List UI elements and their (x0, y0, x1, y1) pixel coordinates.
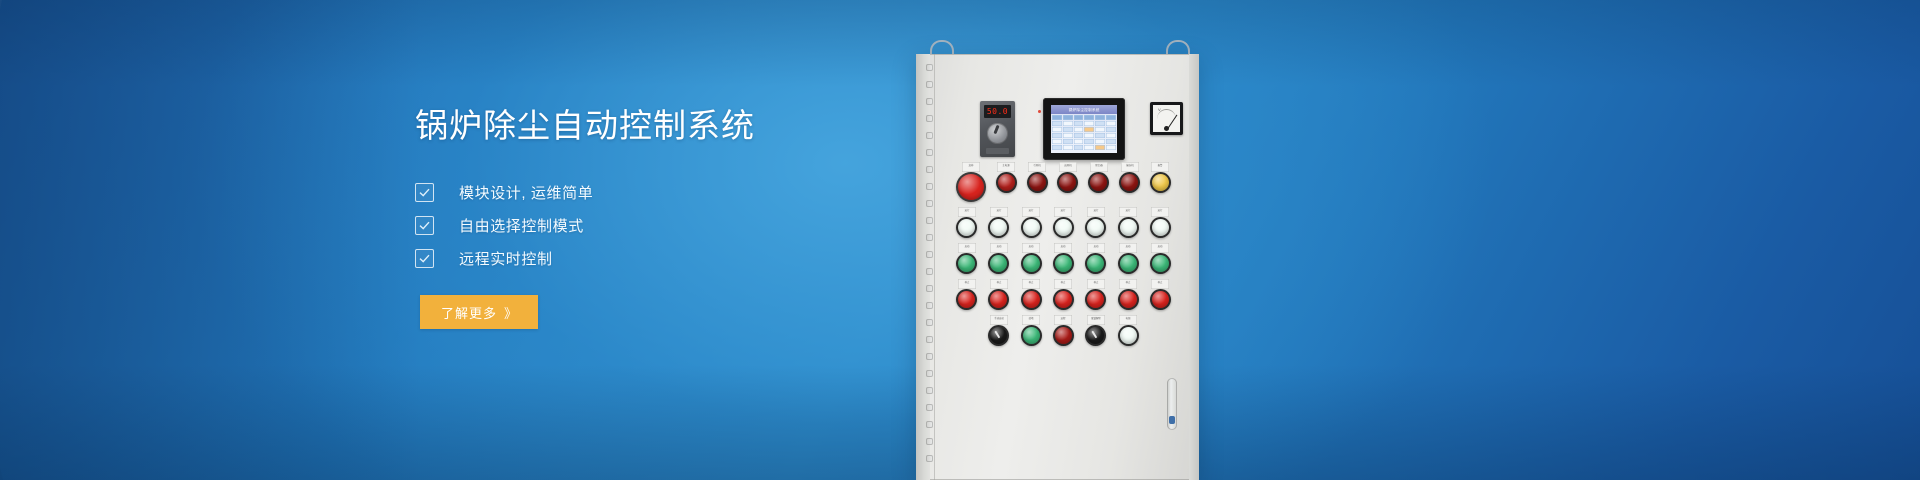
hmi-table-row (1051, 121, 1117, 126)
button-label-plate: 就地 (1022, 315, 1040, 325)
button-label-plate: 远程 (1054, 315, 1072, 325)
button-label-plate: 启动 (958, 243, 976, 253)
button-label-plate: 除尘器 (1090, 162, 1108, 172)
button-label-text: 启动 (1055, 243, 1072, 247)
cabinet-hinge (926, 370, 933, 377)
power-led-icon (1038, 110, 1041, 113)
button-bezel (996, 172, 1017, 193)
cabinet-hinge (926, 132, 933, 139)
button-label-plate: 停止 (1151, 279, 1169, 289)
hmi-cell (1063, 133, 1073, 138)
hmi-cell (1106, 115, 1116, 120)
button-lens (1121, 174, 1138, 191)
hmi-cell (1052, 145, 1062, 150)
button-bezel (988, 289, 1009, 310)
button-bezel (1119, 172, 1140, 193)
button-lens (1087, 255, 1104, 272)
button-label-text: 运行 (1152, 207, 1169, 211)
hmi-cell (1063, 115, 1073, 120)
button-bezel (1150, 217, 1171, 238)
button-bezel (1085, 253, 1106, 274)
hmi-cell (1063, 127, 1073, 132)
indicator-green-sel[interactable]: 就地 (1021, 325, 1042, 346)
button-label-plate: 运行 (1151, 207, 1169, 217)
selector-switch-1[interactable]: 手动自动 (988, 325, 1009, 346)
button-label-text: 手动自动 (991, 315, 1008, 319)
hmi-cell (1074, 145, 1084, 150)
button-label-text: 运行 (1120, 207, 1137, 211)
button-lens (958, 291, 975, 308)
button-lens (958, 255, 975, 272)
button-lens (990, 327, 1007, 344)
cabinet-hinge (926, 319, 933, 326)
button-bezel (1150, 253, 1171, 274)
button-label-text: 联锁解除 (1088, 315, 1105, 319)
button-lens (1120, 255, 1137, 272)
row-selectors: 手动自动就地远程联锁解除电源 (956, 325, 1171, 346)
indicator-white-6[interactable]: 运行 (1118, 217, 1139, 238)
button-lens (1152, 219, 1169, 236)
hmi-cell (1095, 121, 1105, 126)
button-lens (1023, 291, 1040, 308)
button-label-plate: 启动 (1151, 243, 1169, 253)
row-emergency-red: 急停主电源引风机送风机除尘器输灰机报警 (956, 172, 1171, 202)
button-bezel (1150, 289, 1171, 310)
button-bezel (1027, 172, 1048, 193)
button-label-plate: 启动 (1119, 243, 1137, 253)
indicator-white-5[interactable]: 运行 (1085, 217, 1106, 238)
button-label-text: 送风机 (1060, 162, 1077, 166)
button-bezel (1118, 289, 1139, 310)
hmi-cell (1095, 115, 1105, 120)
button-label-plate: 输灰机 (1121, 162, 1139, 172)
button-lens (958, 219, 975, 236)
button-label-text: 启动 (1088, 243, 1105, 247)
cabinet-hinge (926, 353, 933, 360)
stop-button-3[interactable]: 停止 (1021, 289, 1042, 310)
feature-label: 自由选择控制模式 (459, 215, 584, 236)
row-green: 启动启动启动启动启动启动启动 (956, 253, 1171, 274)
cabinet-hinge (926, 387, 933, 394)
hmi-cell (1106, 145, 1116, 150)
indicator-red-4[interactable]: 除尘器 (1088, 172, 1109, 193)
vfd-display-value: 50.0 (987, 108, 1008, 116)
button-lens (990, 219, 1007, 236)
hmi-cell (1095, 133, 1105, 138)
feature-label: 远程实时控制 (459, 248, 553, 269)
cabinet-hinge (926, 455, 933, 462)
button-lens (1152, 255, 1169, 272)
button-lens (1055, 327, 1072, 344)
indicator-white-2[interactable]: 运行 (988, 217, 1009, 238)
button-bezel (1118, 253, 1139, 274)
hmi-cell (1084, 127, 1094, 132)
hmi-cell (1052, 115, 1062, 120)
button-label-text: 除尘器 (1091, 162, 1108, 166)
button-lens (1087, 219, 1104, 236)
vfd-knob[interactable] (987, 123, 1008, 144)
button-label-text: 停止 (1023, 279, 1040, 283)
button-label-plate: 启动 (1022, 243, 1040, 253)
button-bezel (988, 217, 1009, 238)
hmi-cell (1084, 145, 1094, 150)
checkbox-icon (415, 183, 434, 202)
button-lens (990, 291, 1007, 308)
cabinet-hinge (926, 285, 933, 292)
cabinet-right-edge (1189, 54, 1199, 480)
button-label-plate: 停止 (1054, 279, 1072, 289)
hmi-cell (1074, 127, 1084, 132)
hmi-cell (1106, 133, 1116, 138)
button-label-plate: 引风机 (1028, 162, 1046, 172)
button-label-text: 输灰机 (1121, 162, 1138, 166)
button-bezel (1057, 172, 1078, 193)
button-label-plate: 运行 (958, 207, 976, 217)
button-label-text: 停止 (1055, 279, 1072, 283)
button-label-text: 停止 (991, 279, 1008, 283)
button-lens (1087, 291, 1104, 308)
button-label-plate: 报警 (1151, 162, 1169, 172)
indicator-button-grid: 急停主电源引风机送风机除尘器输灰机报警运行运行运行运行运行运行运行启动启动启动启… (956, 172, 1171, 361)
cabinet-hinge (926, 302, 933, 309)
hmi-cell (1106, 127, 1116, 132)
button-label-plate: 启动 (1087, 243, 1105, 253)
hero-banner: 锅炉除尘自动控制系统 模块设计, 运维简单 自由选择控制模式 远程实时控制 (0, 0, 1920, 480)
button-bezel (956, 253, 977, 274)
banner-copy: 锅炉除尘自动控制系统 模块设计, 运维简单 自由选择控制模式 远程实时控制 (415, 106, 935, 275)
button-lens (1023, 327, 1040, 344)
button-lens (1152, 291, 1169, 308)
hmi-cell (1052, 133, 1062, 138)
stop-button-7[interactable]: 停止 (1150, 289, 1171, 310)
button-bezel (1150, 172, 1171, 193)
indicator-red-1[interactable]: 主电源 (996, 172, 1017, 193)
button-label-plate: 停止 (1119, 279, 1137, 289)
checkbox-icon (415, 249, 434, 268)
stop-button-5[interactable]: 停止 (1085, 289, 1106, 310)
indicator-red-3[interactable]: 送风机 (1057, 172, 1078, 193)
button-bezel (956, 172, 986, 202)
button-label-plate: 停止 (990, 279, 1008, 289)
hmi-cell (1052, 139, 1062, 144)
button-label-text: 启动 (991, 243, 1008, 247)
button-bezel (1021, 325, 1042, 346)
button-label-plate: 急停 (962, 162, 980, 172)
row-white: 运行运行运行运行运行运行运行 (956, 217, 1171, 238)
hmi-cell (1084, 115, 1094, 120)
button-label-text: 停止 (1088, 279, 1105, 283)
cabinet-hinge (926, 438, 933, 445)
button-label-text: 急停 (963, 162, 980, 166)
start-button-1[interactable]: 启动 (956, 253, 977, 274)
hmi-cell (1063, 139, 1073, 144)
button-bezel (1021, 217, 1042, 238)
button-bezel (956, 217, 977, 238)
hmi-cell (1106, 139, 1116, 144)
hmi-cell (1106, 121, 1116, 126)
cabinet-door-seam (934, 54, 935, 480)
meter-face: V (1153, 105, 1180, 132)
button-bezel (1118, 325, 1139, 346)
button-label-text: 就地 (1023, 315, 1040, 319)
feature-list: 模块设计, 运维简单 自由选择控制模式 远程实时控制 (415, 176, 935, 275)
learn-more-button[interactable]: 了解更多 》 (420, 295, 538, 329)
hmi-cell (1095, 145, 1105, 150)
cabinet-hinge (926, 251, 933, 258)
button-label-text: 启动 (958, 243, 975, 247)
stop-button-2[interactable]: 停止 (988, 289, 1009, 310)
vfd-keypad[interactable] (986, 148, 1009, 154)
button-label-plate: 运行 (990, 207, 1008, 217)
row-red-stop: 停止停止停止停止停止停止停止 (956, 289, 1171, 310)
hmi-cell (1095, 139, 1105, 144)
button-bezel (1118, 217, 1139, 238)
button-lens (1152, 174, 1169, 191)
button-lens (1023, 255, 1040, 272)
button-label-plate: 运行 (1054, 207, 1072, 217)
button-lens (1120, 327, 1137, 344)
hmi-touchscreen[interactable]: 锅炉除尘控制系统 (1043, 98, 1125, 160)
button-label-plate: 启动 (990, 243, 1008, 253)
stop-button-1[interactable]: 停止 (956, 289, 977, 310)
button-label-text: 启动 (1120, 243, 1137, 247)
button-label-plate: 停止 (1087, 279, 1105, 289)
start-button-3[interactable]: 启动 (1021, 253, 1042, 274)
button-label-text: 报警 (1152, 162, 1169, 166)
button-label-text: 运行 (1088, 207, 1105, 211)
button-bezel (1085, 217, 1106, 238)
button-label-text: 引风机 (1029, 162, 1046, 166)
button-label-text: 启动 (1152, 243, 1169, 247)
button-lens (1087, 327, 1104, 344)
list-item: 远程实时控制 (415, 242, 935, 275)
hmi-cell (1074, 115, 1084, 120)
button-bezel (1053, 253, 1074, 274)
button-label-plate: 停止 (1022, 279, 1040, 289)
vfd-display: 50.0 (984, 105, 1011, 118)
button-label-plate: 手动自动 (990, 315, 1008, 325)
button-lens (1090, 174, 1107, 191)
button-lens (990, 255, 1007, 272)
button-bezel (1021, 289, 1042, 310)
hmi-table-row (1051, 139, 1117, 144)
button-label-plate: 联锁解除 (1087, 315, 1105, 325)
indicator-white-4[interactable]: 运行 (1053, 217, 1074, 238)
control-cabinet: 50.0 锅炉除尘控制系统 (916, 54, 1199, 480)
list-item: 自由选择控制模式 (415, 209, 935, 242)
start-button-2[interactable]: 启动 (988, 253, 1009, 274)
start-button-5[interactable]: 启动 (1085, 253, 1106, 274)
cabinet-hinge (926, 81, 933, 88)
cabinet-hinge (926, 217, 933, 224)
list-item: 模块设计, 运维简单 (415, 176, 935, 209)
hmi-cell (1052, 127, 1062, 132)
cabinet-hinge (926, 183, 933, 190)
button-lens (958, 174, 984, 200)
button-label-text: 运行 (991, 207, 1008, 211)
button-label-plate: 主电源 (997, 162, 1015, 172)
button-label-text: 远程 (1055, 315, 1072, 319)
start-button-6[interactable]: 启动 (1118, 253, 1139, 274)
button-label-text: 停止 (1152, 279, 1169, 283)
button-bezel (1085, 325, 1106, 346)
cabinet-hinge (926, 421, 933, 428)
button-label-text: 运行 (958, 207, 975, 211)
cabinet-hinge (926, 98, 933, 105)
cabinet-hinge (926, 166, 933, 173)
button-bezel (1053, 325, 1074, 346)
button-label-plate: 启动 (1054, 243, 1072, 253)
button-label-plate: 运行 (1119, 207, 1137, 217)
indicator-white-3[interactable]: 运行 (1021, 217, 1042, 238)
meter-unit-label: V (1158, 107, 1161, 112)
button-label-text: 停止 (958, 279, 975, 283)
button-bezel (1088, 172, 1109, 193)
cabinet-hinge (926, 115, 933, 122)
button-bezel (1085, 289, 1106, 310)
selector-switch-2[interactable]: 联锁解除 (1085, 325, 1106, 346)
cabinet-body: 50.0 锅炉除尘控制系统 (916, 54, 1199, 480)
button-label-plate: 停止 (958, 279, 976, 289)
hmi-table-row (1051, 133, 1117, 138)
hmi-cell (1074, 139, 1084, 144)
button-label-text: 主电源 (998, 162, 1015, 166)
page-title: 锅炉除尘自动控制系统 (415, 106, 935, 146)
hmi-table-row (1051, 127, 1117, 132)
cabinet-hinge (926, 234, 933, 241)
hmi-cell (1074, 121, 1084, 126)
button-lens (1055, 255, 1072, 272)
chevron-right-icon: 》 (504, 303, 517, 322)
button-label-text: 电源 (1120, 315, 1137, 319)
hmi-cell (1052, 121, 1062, 126)
hmi-cell (1095, 127, 1105, 132)
button-lens (1023, 219, 1040, 236)
indicator-amber-1[interactable]: 报警 (1150, 172, 1171, 193)
button-lens (1120, 291, 1137, 308)
button-lens (1029, 174, 1046, 191)
indicator-white-1[interactable]: 运行 (956, 217, 977, 238)
button-lens (1055, 291, 1072, 308)
hmi-table-header (1051, 115, 1117, 120)
button-lens (1120, 219, 1137, 236)
stop-button-4[interactable]: 停止 (1053, 289, 1074, 310)
learn-more-label: 了解更多 (441, 303, 497, 322)
cabinet-hinge (926, 200, 933, 207)
button-label-text: 停止 (1120, 279, 1137, 283)
indicator-white-sel[interactable]: 电源 (1118, 325, 1139, 346)
hmi-table-row (1051, 145, 1117, 150)
button-label-text: 运行 (1055, 207, 1072, 211)
vfd-controller[interactable]: 50.0 (980, 101, 1015, 157)
hmi-cell (1084, 121, 1094, 126)
hmi-title: 锅炉除尘控制系统 (1069, 107, 1100, 112)
button-bezel (1053, 217, 1074, 238)
cabinet-hinge (926, 404, 933, 411)
hmi-cell (1084, 133, 1094, 138)
button-bezel (1021, 253, 1042, 274)
feature-label: 模块设计, 运维简单 (459, 182, 593, 203)
hmi-cell (1063, 121, 1073, 126)
button-lens (998, 174, 1015, 191)
cabinet-hinge (926, 64, 933, 71)
start-button-7[interactable]: 启动 (1150, 253, 1171, 274)
indicator-white-7[interactable]: 运行 (1150, 217, 1171, 238)
cabinet-hinge (926, 149, 933, 156)
emergency-stop-button[interactable]: 急停 (956, 172, 986, 202)
cabinet-door-handle[interactable] (1167, 378, 1177, 430)
button-label-plate: 电源 (1119, 315, 1137, 325)
analog-panel-meter: V (1150, 102, 1183, 135)
button-bezel (988, 325, 1009, 346)
hmi-cell (1084, 139, 1094, 144)
button-bezel (956, 289, 977, 310)
button-lens (1059, 174, 1076, 191)
button-label-text: 启动 (1023, 243, 1040, 247)
hmi-title-bar: 锅炉除尘控制系统 (1051, 105, 1117, 114)
indicator-red-2[interactable]: 引风机 (1027, 172, 1048, 193)
hmi-cell (1063, 145, 1073, 150)
hmi-cell (1074, 133, 1084, 138)
button-label-text: 运行 (1023, 207, 1040, 211)
button-bezel (1053, 289, 1074, 310)
stop-button-6[interactable]: 停止 (1118, 289, 1139, 310)
cabinet-hinge (926, 268, 933, 275)
button-lens (1055, 219, 1072, 236)
indicator-red-5[interactable]: 输灰机 (1119, 172, 1140, 193)
hmi-screen[interactable]: 锅炉除尘控制系统 (1051, 105, 1117, 153)
checkbox-icon (415, 216, 434, 235)
meter-hub (1164, 126, 1169, 131)
start-button-4[interactable]: 启动 (1053, 253, 1074, 274)
button-label-plate: 送风机 (1059, 162, 1077, 172)
button-label-plate: 运行 (1087, 207, 1105, 217)
button-bezel (988, 253, 1009, 274)
button-label-plate: 运行 (1022, 207, 1040, 217)
indicator-red-sel[interactable]: 远程 (1053, 325, 1074, 346)
cabinet-hinge (926, 336, 933, 343)
